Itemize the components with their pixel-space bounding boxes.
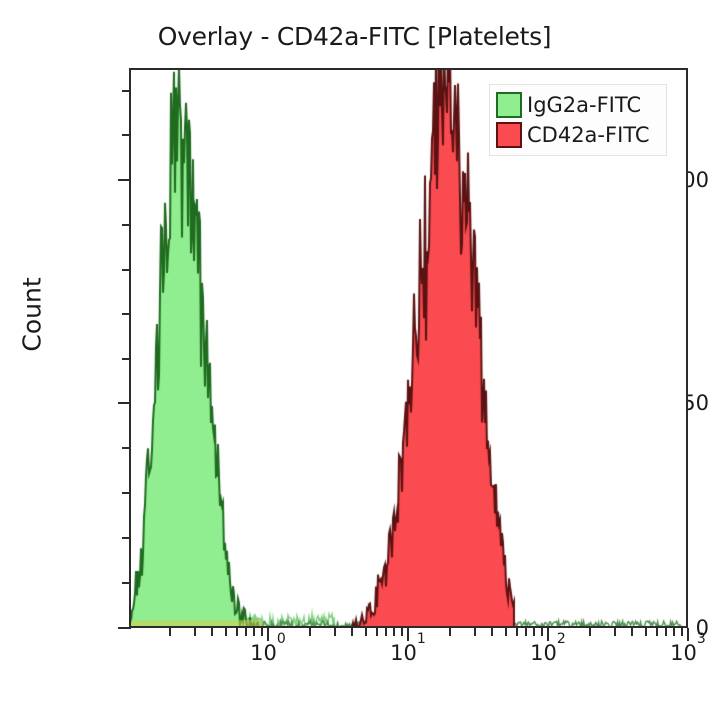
x-tick-minor	[253, 628, 255, 636]
x-tick-minor	[491, 628, 493, 636]
x-tick-minor	[393, 628, 395, 636]
x-tick-label-1e3: 103	[643, 640, 709, 665]
x-tick-minor	[245, 628, 247, 636]
x-tick-minor	[533, 628, 535, 636]
x-tick-minor	[365, 628, 367, 636]
x-tick-minor	[385, 628, 387, 636]
legend-item-cd42a[interactable]: CD42a-FITC	[496, 120, 660, 150]
x-tick-minor	[309, 628, 311, 636]
x-tick-minor	[376, 628, 378, 636]
legend-swatch-cd42a-fitc	[496, 122, 522, 148]
x-tick-exponent: 2	[557, 631, 566, 647]
x-tick-minor	[351, 628, 353, 636]
x-tick-minor	[236, 628, 238, 636]
x-tick-minor	[541, 628, 543, 636]
x-tick-minor	[401, 628, 403, 636]
x-tick-minor	[211, 628, 213, 636]
x-tick-label-1e2: 102	[503, 640, 593, 665]
x-tick-minor	[474, 628, 476, 636]
x-tick-minor	[516, 628, 518, 636]
legend-label-igg2a-fitc: IgG2a-FITC	[527, 95, 641, 116]
page-title: Overlay - CD42a-FITC [Platelets]	[0, 22, 709, 51]
x-tick-minor	[681, 628, 683, 636]
x-tick-mantissa: 10	[390, 641, 417, 665]
x-tick-minor	[631, 628, 633, 636]
legend-label-cd42a-fitc: CD42a-FITC	[527, 125, 650, 146]
x-tick-minor	[261, 628, 263, 636]
x-tick-minor	[656, 628, 658, 636]
y-axis-title: Count	[18, 245, 47, 385]
x-tick-mantissa: 10	[670, 641, 697, 665]
x-tick-mantissa: 10	[530, 641, 557, 665]
x-tick-exponent: 3	[697, 631, 706, 647]
x-tick-minor	[449, 628, 451, 636]
x-tick-minor	[614, 628, 616, 636]
x-tick-mantissa: 10	[250, 641, 277, 665]
flow-cytometry-overlay-plot: Overlay - CD42a-FITC [Platelets] Count 1…	[0, 0, 709, 709]
x-tick-minor	[194, 628, 196, 636]
legend-item-iggg2a[interactable]: IgG2a-FITC	[496, 90, 660, 120]
x-tick-minor	[334, 628, 336, 636]
legend-swatch-igg2a-fitc	[496, 92, 522, 118]
x-tick-minor	[225, 628, 227, 636]
x-tick-minor	[589, 628, 591, 636]
x-tick-exponent: 0	[277, 631, 286, 647]
x-tick-minor	[665, 628, 667, 636]
x-tick-label-1e0: 100	[223, 640, 313, 665]
x-tick-minor	[645, 628, 647, 636]
x-tick-label-1e1: 101	[363, 640, 453, 665]
x-tick-minor	[505, 628, 507, 636]
bottom-edge-artifact	[0, 686, 709, 709]
x-tick-exponent: 1	[417, 631, 426, 647]
x-tick-minor	[169, 628, 171, 636]
legend: IgG2a-FITC CD42a-FITC	[489, 84, 667, 156]
x-tick-minor	[525, 628, 527, 636]
x-tick-minor	[673, 628, 675, 636]
